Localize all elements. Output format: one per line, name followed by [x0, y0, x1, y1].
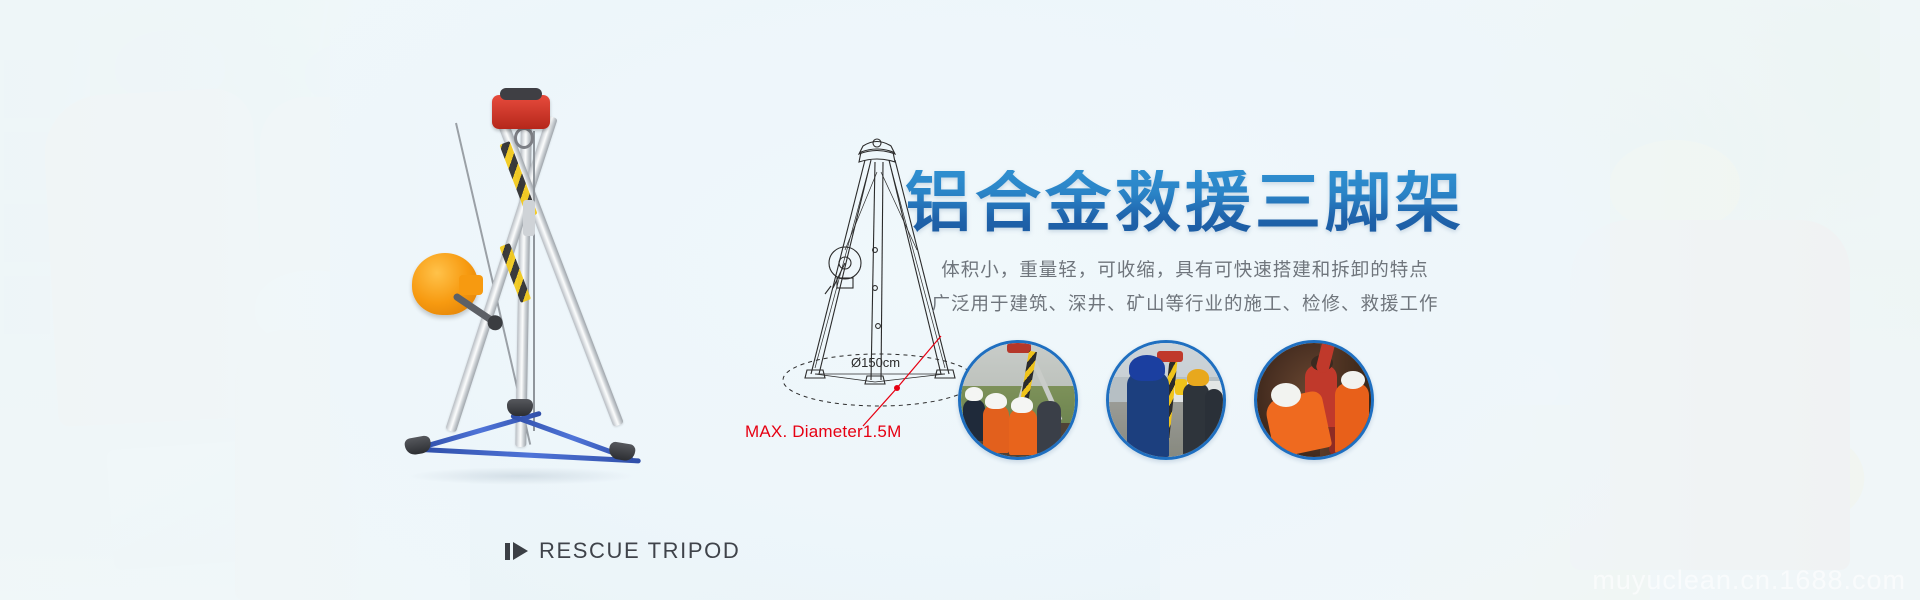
thumbnail-field-well-rescue[interactable] — [958, 340, 1078, 460]
tripod-base-straps — [403, 385, 637, 470]
watermark: muyuclean.cn.1688.com — [1592, 565, 1906, 596]
max-diameter-label: MAX. Diameter1.5M — [745, 422, 901, 442]
product-banner: RESCUE TRIPOD — [0, 0, 1920, 600]
diameter-dimension-label: Ø150cm — [851, 355, 900, 370]
headline-block: 铝合金救援三脚架 体积小，重量轻，可收缩，具有可快速搭建和拆卸的特点 广泛用于建… — [905, 170, 1465, 321]
product-caption: RESCUE TRIPOD — [505, 538, 740, 564]
tripod-descender — [523, 200, 535, 236]
product-caption-text: RESCUE TRIPOD — [539, 538, 740, 564]
subtitle-block: 体积小，重量轻，可收缩，具有可快速搭建和拆卸的特点 广泛用于建筑、深井、矿山等行… — [905, 253, 1465, 321]
thumbnail-site-inspection[interactable] — [1106, 340, 1226, 460]
page-title: 铝合金救援三脚架 — [905, 170, 1465, 236]
subtitle-line-2: 广泛用于建筑、深井、矿山等行业的施工、检修、救援工作 — [905, 287, 1465, 321]
thumbnail-image — [1257, 343, 1371, 457]
thumbnail-tunnel-rescue[interactable] — [1254, 340, 1374, 460]
play-marker-icon — [505, 542, 528, 560]
subtitle-line-1: 体积小，重量轻，可收缩，具有可快速搭建和拆卸的特点 — [905, 253, 1465, 287]
product-tripod-image — [395, 95, 645, 485]
thumbnail-image — [1109, 343, 1223, 457]
tripod-head-assembly — [492, 95, 550, 129]
tripod-anchor-ring-icon — [514, 127, 534, 149]
thumbnail-image — [961, 343, 1075, 457]
thumbnail-row — [958, 340, 1374, 460]
